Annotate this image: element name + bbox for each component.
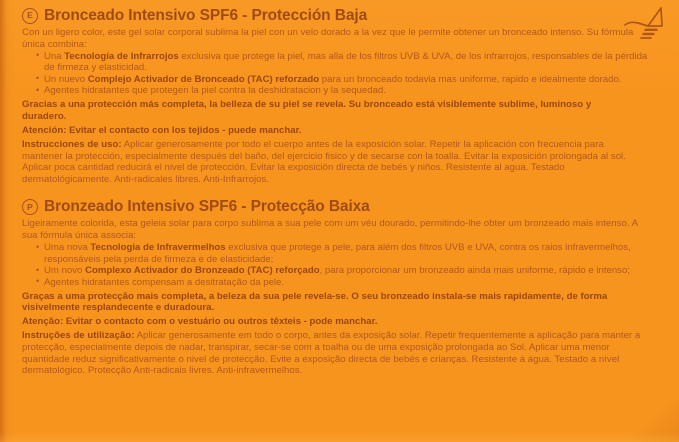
list-item: Uma nova Tecnologia de Infravermelhos ex… (36, 242, 652, 265)
section-portuguese: P Bronzeado Intensivo SPF6 - Protecção B… (22, 198, 663, 376)
label-corner-fold-shading (621, 400, 679, 442)
label-bottom-edge-shading (0, 432, 679, 442)
heading-row-spanish: E Bronceado Intensivo SPF6 - Protección … (22, 7, 663, 24)
benefit-paragraph-spanish: Gracias a una protección más completa, l… (22, 99, 622, 122)
usage-paragraph-spanish: Instrucciones de uso: Aplicar generosame… (22, 139, 644, 185)
bullet-text-pre: Un nuevo (44, 74, 88, 85)
list-item: Un nuevo Complejo Activador de Bronceado… (36, 74, 652, 86)
section-spanish: E Bronceado Intensivo SPF6 - Protección … (22, 7, 663, 185)
warning-paragraph-spanish: Atención: Evitar el contacto con los tej… (22, 125, 622, 137)
bullet-text-pre: Um novo (44, 265, 85, 276)
label-left-edge-shading (0, 0, 7, 442)
bullet-text-bold: Tecnología de Infrarrojos (64, 51, 178, 62)
bullet-text-pre: Uma nova (44, 242, 90, 253)
usage-label-portuguese: Instruções de utilização: (22, 330, 134, 341)
section-title-portuguese: Bronzeado Intensivo SPF6 - Protecção Bai… (44, 198, 370, 215)
bullet-text-pre: Una (44, 51, 64, 62)
language-badge-portuguese: P (22, 199, 38, 215)
intro-paragraph-portuguese: Ligeiramente colorida, esta geleia solar… (22, 218, 644, 241)
benefit-paragraph-portuguese: Graças a uma protecção mais completa, a … (22, 291, 622, 314)
bullet-text-pre: Agentes hidratantes compensam a desitrat… (44, 277, 284, 288)
heading-row-portuguese: P Bronzeado Intensivo SPF6 - Protecção B… (22, 198, 663, 215)
bullet-text-bold: Complexo Activador do Bronzeado (TAC) re… (85, 265, 320, 276)
list-item: Una Tecnología de Infrarrojos exclusiva … (36, 51, 652, 74)
language-badge-spanish: E (22, 8, 38, 24)
list-item: Agentes hidratantes compensam a desitrat… (36, 277, 652, 289)
intro-paragraph-spanish: Con un ligero color, este gel solar corp… (22, 27, 644, 50)
list-item: Um novo Complexo Activador do Bronzeado … (36, 265, 652, 277)
section-title-spanish: Bronceado Intensivo SPF6 - Protección Ba… (44, 7, 367, 24)
list-item: Agentes hidratantes que protegen la piel… (36, 85, 652, 97)
feature-bullets-spanish: Una Tecnología de Infrarrojos exclusiva … (22, 51, 663, 97)
warning-paragraph-portuguese: Atenção: Evitar o contacto com o vestuár… (22, 316, 622, 328)
bullet-text-bold: Complejo Activador de Bronceado (TAC) re… (88, 74, 319, 85)
bullet-text-bold: Tecnologia de Infravermelhos (90, 242, 225, 253)
feature-bullets-portuguese: Uma nova Tecnologia de Infravermelhos ex… (22, 242, 663, 288)
usage-label-spanish: Instrucciones de uso: (22, 139, 122, 150)
bullet-text-post: para un bronceado todavia mas uniforme, … (319, 74, 621, 85)
product-label-panel: E Bronceado Intensivo SPF6 - Protección … (0, 0, 679, 442)
usage-paragraph-portuguese: Instruções de utilização: Aplicar genero… (22, 330, 644, 376)
bullet-text-pre: Agentes hidratantes que protegen la piel… (44, 85, 386, 96)
bullet-text-post: , para proporcionar um bronzeado ainda m… (320, 265, 630, 276)
